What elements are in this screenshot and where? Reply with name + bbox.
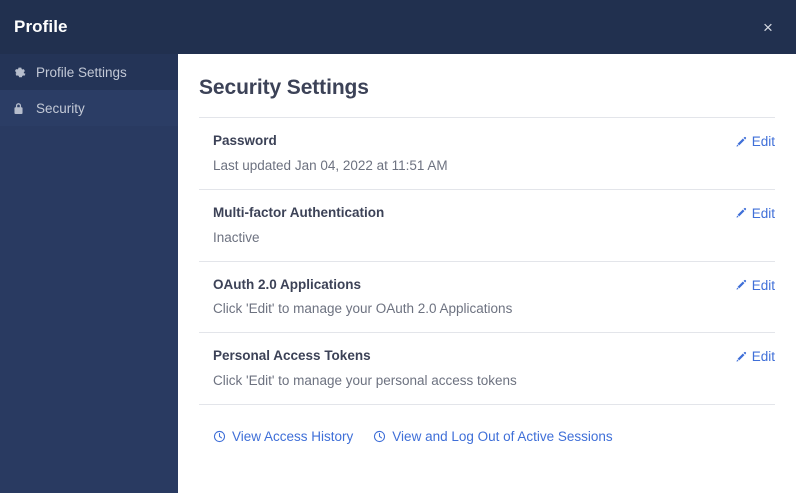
gear-icon [13,66,32,79]
table-row: Multi-factor Authentication Inactive Edi… [199,190,775,262]
page-title: Security Settings [199,76,775,117]
view-active-sessions-link[interactable]: View and Log Out of Active Sessions [373,429,612,444]
edit-oauth-button[interactable]: Edit [735,278,775,293]
footer-links: View Access History View and Log Out of … [199,405,775,444]
row-subtitle: Click 'Edit' to manage your personal acc… [213,373,517,390]
pencil-icon [735,351,747,363]
footer-link-label: View Access History [232,429,353,444]
clock-icon [213,430,226,443]
modal-title: Profile [14,17,68,37]
clock-icon [373,430,386,443]
view-access-history-link[interactable]: View Access History [213,429,353,444]
table-row: OAuth 2.0 Applications Click 'Edit' to m… [199,262,775,334]
edit-mfa-button[interactable]: Edit [735,206,775,221]
row-text: Multi-factor Authentication Inactive [199,205,384,247]
sidebar-item-label: Security [36,101,85,116]
edit-label: Edit [752,206,775,221]
row-text: Password Last updated Jan 04, 2022 at 11… [199,133,448,175]
edit-label: Edit [752,349,775,364]
edit-label: Edit [752,278,775,293]
lock-icon [13,102,32,115]
edit-tokens-button[interactable]: Edit [735,349,775,364]
pencil-icon [735,207,747,219]
row-subtitle: Inactive [213,230,384,247]
row-text: OAuth 2.0 Applications Click 'Edit' to m… [199,277,512,319]
sidebar-item-label: Profile Settings [36,65,127,80]
row-title: Multi-factor Authentication [213,205,384,222]
row-title: Password [213,133,448,150]
sidebar-item-profile-settings[interactable]: Profile Settings [0,54,178,90]
sidebar-item-security[interactable]: Security [0,90,178,126]
edit-password-button[interactable]: Edit [735,134,775,149]
close-icon[interactable]: × [754,13,782,41]
profile-modal: Profile × Profile Settings [0,0,796,493]
main-content: Security Settings Password Last updated … [178,54,796,493]
table-row: Personal Access Tokens Click 'Edit' to m… [199,333,775,405]
row-subtitle: Click 'Edit' to manage your OAuth 2.0 Ap… [213,301,512,318]
modal-titlebar: Profile × [0,0,796,54]
table-row: Password Last updated Jan 04, 2022 at 11… [199,118,775,190]
footer-link-label: View and Log Out of Active Sessions [392,429,612,444]
row-subtitle: Last updated Jan 04, 2022 at 11:51 AM [213,158,448,175]
edit-label: Edit [752,134,775,149]
settings-list: Password Last updated Jan 04, 2022 at 11… [199,117,775,405]
row-title: OAuth 2.0 Applications [213,277,512,294]
pencil-icon [735,279,747,291]
pencil-icon [735,136,747,148]
row-text: Personal Access Tokens Click 'Edit' to m… [199,348,517,390]
sidebar: Profile Settings Security [0,54,178,493]
modal-body: Profile Settings Security Security Setti… [0,54,796,493]
row-title: Personal Access Tokens [213,348,517,365]
